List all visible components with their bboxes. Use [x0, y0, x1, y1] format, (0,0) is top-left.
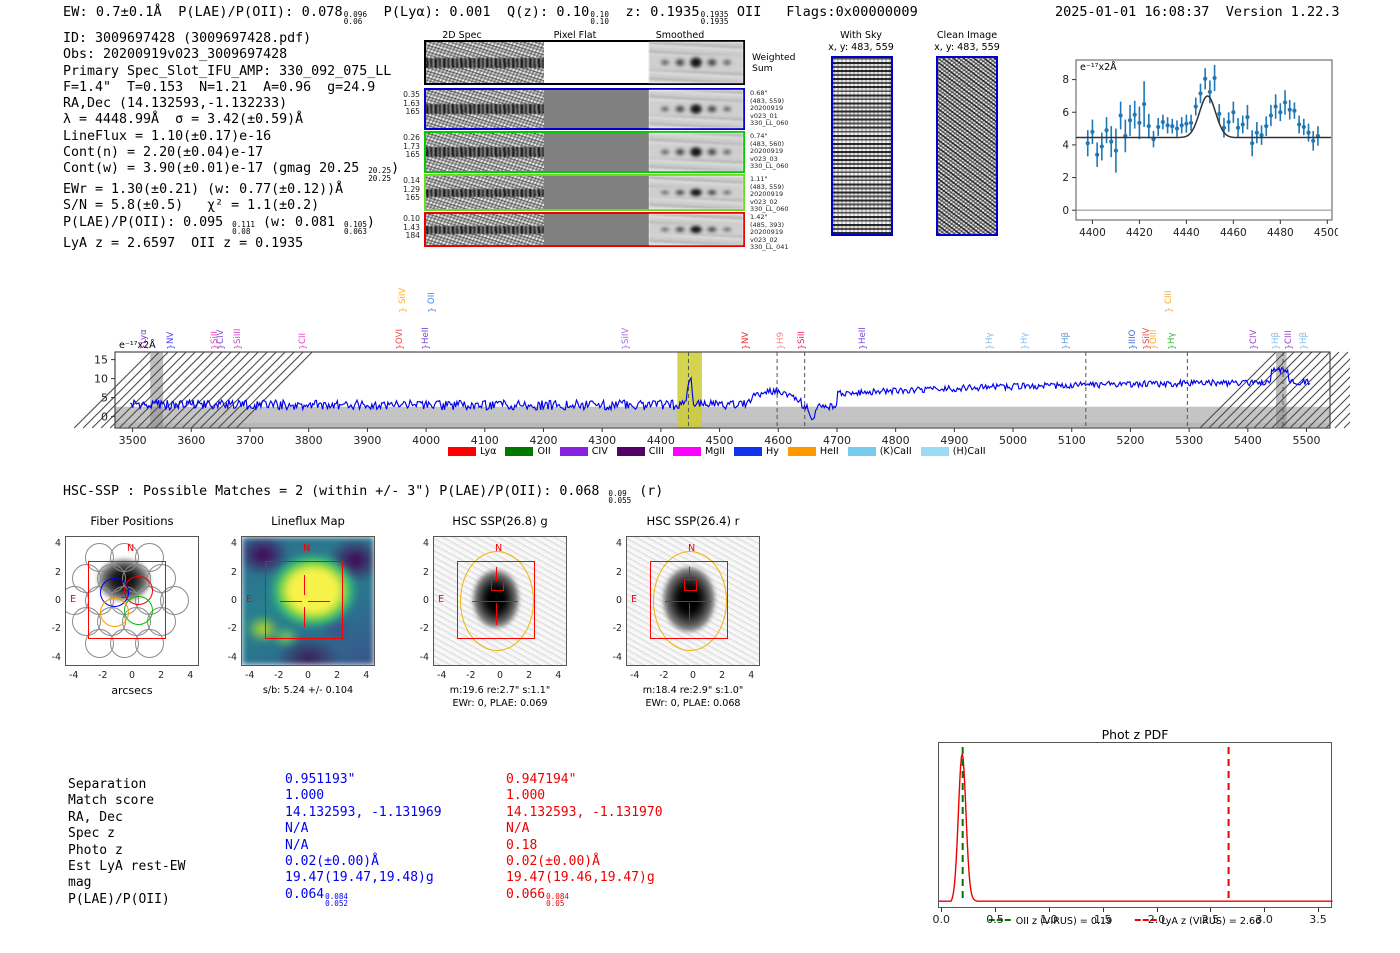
panel-title-2: HSC SSP(26.8) g — [413, 514, 587, 528]
cutout-image-clean[interactable] — [936, 56, 998, 236]
spec2d-row-stats-1: 0.351.63165 — [384, 91, 420, 117]
photz-xtick-6: 3.0 — [1246, 913, 1282, 926]
emission-line-brace-3: { — [215, 344, 225, 350]
lineflux-cross-right — [308, 601, 330, 602]
smoothed-trace-3 — [649, 187, 743, 199]
param-plae-w-lo: 0.063 — [344, 228, 367, 235]
lineflux-cross-left — [280, 601, 302, 602]
panel-2-ytick-1: -2 — [413, 623, 429, 634]
panel-0-ytick-1: -2 — [45, 623, 61, 634]
legend-item-HCaII: (H)CaII — [921, 446, 986, 457]
spec2d-trace-3 — [426, 189, 544, 198]
weighted-sum-line1: Weighted — [752, 53, 796, 64]
emission-line-brace-17: { — [1060, 344, 1070, 350]
match-row-label-6: mag — [68, 875, 91, 892]
spec2d-raw-1 — [426, 90, 544, 128]
match-row-plae1-lo: 0.052 — [325, 900, 348, 907]
panel-0-ytick-4: 4 — [45, 538, 61, 549]
emission-line-brace-10: { — [620, 344, 630, 350]
spec2d-row-4[interactable] — [424, 212, 745, 247]
match-row-label-3: Spec z — [68, 826, 115, 843]
photz-xtickmark-3 — [1103, 908, 1104, 912]
panel-3-xtick-0: -4 — [627, 670, 643, 681]
smoothed-trace-2 — [649, 145, 743, 159]
spec2d-row-meta-4: 1.42"(485, 393)20200919v023_02330_LL_041 — [750, 214, 820, 252]
emission-line-label-H-26: Hβ — [1299, 308, 1309, 344]
emission-line-label-SiIV-10: SiIV — [621, 308, 631, 344]
photz-xtickmark-2 — [1049, 908, 1050, 912]
legend-label-1: OII — [537, 446, 550, 457]
svg-text:3700: 3700 — [236, 434, 264, 447]
panel-1-ytick-3: 2 — [221, 567, 237, 578]
emission-line-brace-1: { — [165, 344, 175, 350]
panel-image-0[interactable]: NE — [65, 536, 199, 666]
full-spectrum-legend: LyαOIICIVCIIIMgIIHyHeII(K)CaII(H)CaII — [448, 446, 995, 457]
emission-line-brace-13: { — [796, 344, 806, 350]
photz-pdf-title: Phot z PDF — [1102, 727, 1169, 742]
emission-line-brace-8: { — [420, 344, 430, 350]
svg-text:3600: 3600 — [177, 434, 205, 447]
svg-text:3500: 3500 — [119, 434, 147, 447]
legend-chip-5 — [734, 447, 762, 456]
full-spectrum-plot[interactable]: 0510153500360037003800390040004100420043… — [60, 272, 1350, 472]
header-z-label: z: — [625, 4, 641, 20]
fiber-center-mark — [121, 597, 128, 598]
emission-line-label-CIII-22: CIII — [1164, 274, 1174, 304]
weighted-sum-line2: Sum — [752, 64, 796, 75]
match-row-value2-6: 19.47(19.46,19.47)g — [506, 870, 655, 887]
svg-text:2: 2 — [1062, 172, 1069, 184]
header-qz-label: Q(z): — [507, 4, 548, 20]
spec2d-smoothed-3 — [649, 176, 743, 209]
legend-item-CIV: CIV — [560, 446, 608, 457]
header-plya: P(Lyα): 0.001 — [384, 4, 491, 20]
emission-line-brace-14: { — [857, 344, 867, 350]
emission-line-label-CIV-23: CIV — [1249, 308, 1259, 344]
lineflux-cross-bottom — [304, 607, 305, 627]
spec2d-raw-4 — [426, 214, 544, 245]
panel-caption1-1: s/b: 5.24 +/- 0.104 — [211, 685, 405, 697]
panel-title-3: HSC SSP(26.4) r — [606, 514, 780, 528]
param-id: ID: 3009697428 (3009697428.pdf) — [63, 31, 399, 47]
spec2d-row-3[interactable] — [424, 174, 745, 211]
param-cont-w-post: ) — [391, 161, 399, 176]
panel-0-xtick-0: -4 — [66, 670, 82, 681]
emission-line-label-SiII-13: SiII — [797, 308, 807, 344]
emission-line-brace-20: { — [1148, 344, 1158, 350]
cutout-image-with-sky[interactable] — [831, 56, 893, 236]
match-row-value2-1: 1.000 — [506, 788, 545, 805]
legend-chip-3 — [617, 447, 645, 456]
panel-2-xtick-1: -2 — [463, 670, 479, 681]
spec2d-trace-0 — [426, 58, 544, 69]
svg-text:15: 15 — [94, 354, 108, 367]
emission-line-label-IIIO-18: IIIO — [1128, 308, 1138, 344]
legend-chip-6 — [788, 447, 816, 456]
spec2d-row-stat-1-2: 165 — [384, 108, 420, 117]
emission-line-brace-12: { — [775, 344, 785, 350]
legend-chip-4 — [673, 447, 701, 456]
lineflux-redbox — [265, 561, 343, 639]
panel-3-xtick-3: 2 — [714, 670, 730, 681]
panel-3-ytick-4: 4 — [606, 538, 622, 549]
compass-east-1: E — [246, 594, 252, 605]
header-timestamp-version: 2025-01-01 16:08:37 Version 1.22.3 — [1055, 4, 1340, 20]
match-row-value2-5: 0.02(±0.00)Å — [506, 854, 600, 871]
compass-east-0: E — [70, 594, 76, 605]
cutout-coords-with-sky: x, y: 483, 559 — [828, 42, 894, 53]
photz-xtick-4: 2.0 — [1139, 913, 1175, 926]
legend-label-0: Lyα — [480, 446, 496, 457]
header-summary-line: EW: 0.7±0.1Å P(LAE)/P(OII): 0.0780.0960.… — [63, 4, 918, 26]
photz-xtickmark-0 — [941, 908, 942, 912]
photz-xtick-7: 3.5 — [1300, 913, 1336, 926]
emission-line-brace-22: { — [1162, 307, 1172, 313]
match-row-value2-0: 0.947194" — [506, 772, 576, 789]
param-cont-w: Cont(w) = 3.90(±0.01)e-17 (gmag 20.25 20… — [63, 161, 399, 182]
svg-text:4460: 4460 — [1220, 227, 1247, 239]
panel-0-ytick-3: 2 — [45, 567, 61, 578]
legend-label-3: CIII — [649, 446, 664, 457]
panel-2-ytick-4: 4 — [413, 538, 429, 549]
emission-line-brace-26: { — [1297, 344, 1307, 350]
emission-line-brace-4: { — [232, 344, 242, 350]
panel-1-xtick-0: -4 — [242, 670, 258, 681]
spec2d-smoothed-1 — [649, 90, 743, 128]
panel-3-xtick-4: 4 — [743, 670, 759, 681]
param-plae: P(LAE)/P(OII): 0.095 0.1110.08 (w: 0.081… — [63, 215, 399, 236]
header-plae-value: 0.078 — [302, 4, 343, 20]
spec2d-row-stat-4-2: 184 — [384, 232, 420, 241]
panel-1-xtick-3: 2 — [329, 670, 345, 681]
param-plae-mid: (w: 0.081 — [255, 215, 343, 230]
compass-north-0: N — [127, 543, 134, 554]
photz-xtickmark-6 — [1264, 908, 1265, 912]
emission-line-brace-9: { — [426, 307, 436, 313]
pixel-flat-3 — [544, 176, 649, 209]
emission-line-label-CII-5: CII — [298, 308, 308, 344]
spec2d-row-stats-3: 0.141.29165 — [384, 177, 420, 203]
fiber-circle-18[interactable] — [65, 586, 89, 615]
panel-1-xtick-2: 0 — [300, 670, 316, 681]
match-row-value2-3: N/A — [506, 821, 529, 838]
emission-line-brace-15: { — [983, 344, 993, 350]
spec2d-row-stat-3-2: 165 — [384, 194, 420, 203]
photz-xtickmark-5 — [1210, 908, 1211, 912]
emission-line-brace-5: { — [297, 344, 307, 350]
match-row-value1-3: N/A — [285, 821, 308, 838]
param-snr: S/N = 5.8(±0.5) χ² = 1.1(±0.2) — [63, 198, 399, 214]
emission-line-label-OII-9: OII — [427, 274, 437, 304]
pixel-flat-2 — [544, 133, 649, 171]
emission-line-brace-16: { — [1019, 344, 1029, 350]
panel-1-xtick-1: -2 — [271, 670, 287, 681]
match-row-value1-6: 19.47(19.47,19.48)g — [285, 870, 434, 887]
photz-xtickmark-7 — [1318, 908, 1319, 912]
spec2d-trace-2 — [426, 147, 544, 157]
param-radec: RA,Dec (14.132593,-1.132233) — [63, 96, 399, 112]
emission-line-label-SiIII-4: SiIII — [233, 308, 243, 344]
smoothed-trace-4 — [649, 224, 743, 235]
match-row-value1-4: N/A — [285, 838, 308, 855]
match-row-label-4: Photo z — [68, 843, 123, 860]
panel-title-0: Fiber Positions — [45, 514, 219, 528]
panel-2-ytick-2: 0 — [413, 595, 429, 606]
hsc-cross-h-3 — [665, 601, 711, 602]
match-row-label-0: Separation — [68, 777, 146, 794]
svg-text:4000: 4000 — [412, 434, 440, 447]
match-row-plae2-lo: 0.05 — [546, 900, 569, 907]
param-obs: Obs: 20200919v023_3009697428 — [63, 47, 399, 63]
panel-caption1-2: m:19.6 re:2.7" s:1.1" — [403, 685, 597, 697]
legend-label-7: (K)CaII — [880, 446, 912, 457]
panel-0-ytick-2: 0 — [45, 595, 61, 606]
panel-3-ytick-3: 2 — [606, 567, 622, 578]
spec2d-raw-0 — [426, 42, 544, 83]
compass-north-3: N — [688, 543, 695, 554]
hsc-matches-header: HSC-SSP : Possible Matches = 2 (within +… — [63, 484, 663, 505]
panel-2-xtick-0: -4 — [434, 670, 450, 681]
panel-0-xtick-3: 2 — [153, 670, 169, 681]
hsc-match-marker-2 — [491, 579, 504, 591]
legend-item-Hy: Hy — [734, 446, 779, 457]
legend-label-5: Hy — [766, 446, 779, 457]
hsc-cross-v1-2 — [496, 567, 497, 581]
match-row-plae2: 0.0660.0840.05 — [506, 887, 569, 908]
hsc-header-pre: HSC-SSP : Possible Matches = 2 (within +… — [63, 484, 607, 499]
cutout-title-with-sky: With Sky x, y: 483, 559 — [816, 30, 906, 53]
param-plae-pre: P(LAE)/P(OII): 0.095 — [63, 215, 231, 230]
spec2d-smoothed-2 — [649, 133, 743, 171]
spec2d-row-meta-3: 1.11"(483, 559)20200919v023_02330_LL_060 — [750, 176, 820, 214]
legend-item-CIII: CIII — [617, 446, 664, 457]
spec2d-raw-2 — [426, 133, 544, 171]
lineflux-cross-top — [304, 575, 305, 595]
param-plae-post: ) — [367, 215, 375, 230]
emission-line-label-H-21: Hγ — [1167, 308, 1177, 344]
panel-3-ytick-0: -4 — [606, 652, 622, 663]
svg-text:3900: 3900 — [353, 434, 381, 447]
param-plae-lo: 0.08 — [232, 228, 255, 235]
svg-text:5: 5 — [101, 392, 108, 405]
svg-text:4: 4 — [1062, 139, 1069, 151]
hsc-cross-v2-3 — [689, 603, 690, 625]
pixel-flat-4 — [544, 214, 649, 245]
emission-line-label-SiIV-7: SiIV — [398, 274, 408, 304]
svg-text:6: 6 — [1062, 107, 1069, 119]
legend-label-6: HeII — [820, 446, 839, 457]
svg-text:0: 0 — [101, 411, 108, 424]
emission-line-brace-7: { — [396, 307, 406, 313]
header-ew: EW: 0.7±0.1Å — [63, 4, 162, 20]
panel-image-1[interactable]: NE — [241, 536, 375, 666]
spec2d-raw-3 — [426, 176, 544, 209]
svg-text:5100: 5100 — [1058, 434, 1086, 447]
spec2d-row-2[interactable] — [424, 131, 745, 173]
svg-text:3800: 3800 — [295, 434, 323, 447]
emission-line-label-NV-1: NV — [166, 308, 176, 344]
panel-0-ytick-0: -4 — [45, 652, 61, 663]
spec2d-smoothed-4 — [649, 214, 743, 245]
emission-line-label-NV-11: NV — [741, 308, 751, 344]
param-cont-n: Cont(n) = 2.20(±0.04)e-17 — [63, 145, 399, 161]
panel-caption2-3: EWr: 0, PLAE: 0.068 — [596, 698, 790, 710]
legend-item-HeII: HeII — [788, 446, 839, 457]
param-lambda: λ = 4448.99Å σ = 3.42(±0.59)Å — [63, 112, 399, 128]
spec2d-row-stats-4: 0.101.43184 — [384, 215, 420, 241]
legend-item-MgII: MgII — [673, 446, 725, 457]
panel-2-xtick-2: 0 — [492, 670, 508, 681]
panel-title-1: Lineflux Map — [221, 514, 395, 528]
pixel-flat-1 — [544, 90, 649, 128]
panel-3-ytick-2: 0 — [606, 595, 622, 606]
header-qz-value: 0.10 — [556, 4, 589, 20]
legend-label-8: (H)CaII — [953, 446, 986, 457]
emission-line-brace-21: { — [1165, 344, 1175, 350]
hsc-cross-v2-2 — [496, 603, 497, 625]
legend-label-4: MgII — [705, 446, 725, 457]
spec2d-row-meta-1: 0.68"(483, 559)20200919v023_01330_LL_060 — [750, 90, 820, 128]
legend-chip-0 — [448, 447, 476, 456]
photz-xtick-1: 0.5 — [977, 913, 1013, 926]
timestamp: 2025-01-01 16:08:37 — [1055, 4, 1209, 20]
svg-text:0: 0 — [1062, 205, 1069, 217]
spec2d-smoothed-0 — [649, 42, 743, 83]
legend-chip-8 — [921, 447, 949, 456]
emission-line-label-OVI-6: OVI — [395, 308, 405, 344]
param-cont-w-pre: Cont(w) = 3.90(±0.01)e-17 (gmag 20.25 — [63, 161, 367, 176]
panel-2-xtick-3: 2 — [521, 670, 537, 681]
header-qz-lo: 0.10 — [590, 18, 609, 25]
svg-text:5000: 5000 — [999, 434, 1027, 447]
panel-1-xtick-4: 4 — [358, 670, 374, 681]
legend-item-OII: OII — [505, 446, 550, 457]
photz-xtick-0: 0.0 — [923, 913, 959, 926]
cutout-coords-clean-image: x, y: 483, 559 — [934, 42, 1000, 53]
emission-line-label-CIII-25: CIII — [1284, 308, 1294, 344]
panel-3-xtick-2: 0 — [685, 670, 701, 681]
panel-2-ytick-3: 2 — [413, 567, 429, 578]
emission-line-brace-6: { — [394, 344, 404, 350]
emission-line-label-H9-12: H9 — [776, 308, 786, 344]
param-lineflux: LineFlux = 1.10(±0.17)e-16 — [63, 129, 399, 145]
svg-text:4440: 4440 — [1173, 227, 1200, 239]
cutout-name-with-sky: With Sky — [840, 30, 882, 41]
emission-line-brace-25: { — [1283, 344, 1293, 350]
match-row-value1-2: 14.132593, -1.131969 — [285, 805, 442, 822]
hsc-header-lo: 0.055 — [608, 497, 631, 504]
svg-text:8: 8 — [1062, 74, 1069, 86]
svg-text:4500: 4500 — [1314, 227, 1338, 239]
panel-1-ytick-2: 0 — [221, 595, 237, 606]
cutout-title-clean-image: Clean Image x, y: 483, 559 — [918, 30, 1016, 53]
photz-xtickmark-1 — [995, 908, 996, 912]
legend-chip-7 — [848, 447, 876, 456]
smoothed-trace-0 — [649, 55, 743, 70]
panel-0-xtick-1: -2 — [95, 670, 111, 681]
spec2d-row-meta-2: 0.74"(483, 560)20200919v023_03330_LL_060 — [750, 133, 820, 171]
spec2d-trace-4 — [426, 226, 544, 234]
spec2d-row-meta-2-4: 330_LL_060 — [750, 163, 820, 171]
hsc-match-marker-3 — [684, 579, 697, 591]
panel-image-2[interactable]: NE — [433, 536, 567, 666]
param-specslot: Primary Spec_Slot_IFU_AMP: 330_092_075_L… — [63, 64, 399, 80]
match-row-label-2: RA, Dec — [68, 810, 123, 827]
panel-xlabel-0: arcsecs — [45, 685, 219, 697]
hsc-cross-h-2 — [472, 601, 518, 602]
compass-east-3: E — [631, 594, 637, 605]
panel-caption1-3: m:18.4 re:2.9" s:1.0" — [596, 685, 790, 697]
spec2d-row-stat-2-2: 165 — [384, 151, 420, 160]
svg-text:10: 10 — [94, 373, 108, 386]
header-z-value: 0.1935 — [650, 4, 699, 20]
param-seeing: F=1.4" T=0.153 N=1.21 A=0.96 g=24.9 — [63, 80, 399, 96]
emission-line-label-HeII-14: HeII — [858, 308, 868, 344]
emission-line-fit-plot[interactable]: 02468440044204440446044804500e⁻¹⁷x2Å — [1038, 50, 1338, 250]
header-z-lo: 0.1935 — [701, 18, 729, 25]
smoothed-trace-1 — [649, 102, 743, 116]
panel-3-xtick-1: -2 — [656, 670, 672, 681]
spec2d-row-0[interactable] — [424, 40, 745, 85]
version-label: Version 1.22.3 — [1226, 4, 1340, 20]
header-plae-lo: 0.06 — [344, 18, 367, 25]
spec2d-row-meta-1-4: 330_LL_060 — [750, 120, 820, 128]
match-row-value1-1: 1.000 — [285, 788, 324, 805]
spec2d-row-1[interactable] — [424, 88, 745, 130]
panel-0-xtick-4: 4 — [182, 670, 198, 681]
match-row-plae2-value: 0.066 — [506, 887, 545, 902]
svg-text:4420: 4420 — [1126, 227, 1153, 239]
emission-line-brace-24: { — [1270, 344, 1280, 350]
emission-line-label-H-24: Hβ — [1271, 308, 1281, 344]
emission-line-label-Ly-0: Lyα — [139, 308, 149, 344]
photz-xtick-2: 1.0 — [1031, 913, 1067, 926]
legend-item-KCaII: (K)CaII — [848, 446, 912, 457]
match-row-label-plae: P(LAE)/P(OII) — [68, 892, 170, 909]
hsc-cross-v1-3 — [689, 567, 690, 581]
emission-line-label-HeII-8: HeII — [421, 308, 431, 344]
legend-label-2: CIV — [592, 446, 608, 457]
header-flags: Flags:0x00000009 — [786, 4, 918, 20]
panel-image-3[interactable]: NE — [626, 536, 760, 666]
fiber-redbox — [88, 561, 166, 639]
weighted-sum-label: WeightedSum — [752, 53, 796, 74]
emission-line-label-H-15: Hγ — [985, 308, 995, 344]
photz-xtickmark-4 — [1157, 908, 1158, 912]
panel-0-xtick-2: 0 — [124, 670, 140, 681]
svg-text:5500: 5500 — [1293, 434, 1321, 447]
emission-line-brace-0: { — [138, 344, 148, 350]
emission-line-label-OIII-20: OIII — [1149, 308, 1159, 344]
linefit-units-label: e⁻¹⁷x2Å — [1080, 62, 1117, 73]
legend-item-Ly: Lyα — [448, 446, 496, 457]
legend-chip-1 — [505, 447, 533, 456]
photz-pdf-plot[interactable] — [938, 742, 1332, 908]
emission-line-brace-23: { — [1248, 344, 1258, 350]
svg-text:5400: 5400 — [1234, 434, 1262, 447]
svg-text:5300: 5300 — [1175, 434, 1203, 447]
panel-1-ytick-0: -4 — [221, 652, 237, 663]
panel-1-ytick-1: -2 — [221, 623, 237, 634]
param-ewr: EWr = 1.30(±0.21) (w: 0.77(±0.12))Å — [63, 182, 399, 198]
param-z: LyA z = 2.6597 OII z = 0.1935 — [63, 236, 399, 252]
photz-xtick-3: 1.5 — [1085, 913, 1121, 926]
emission-line-label-CIV-3: CIV — [216, 308, 226, 344]
compass-north-2: N — [495, 543, 502, 554]
match-row-plae1-value: 0.064 — [285, 887, 324, 902]
header-plae-label: P(LAE)/P(OII): — [178, 4, 293, 20]
panel-3-ytick-1: -2 — [606, 623, 622, 634]
